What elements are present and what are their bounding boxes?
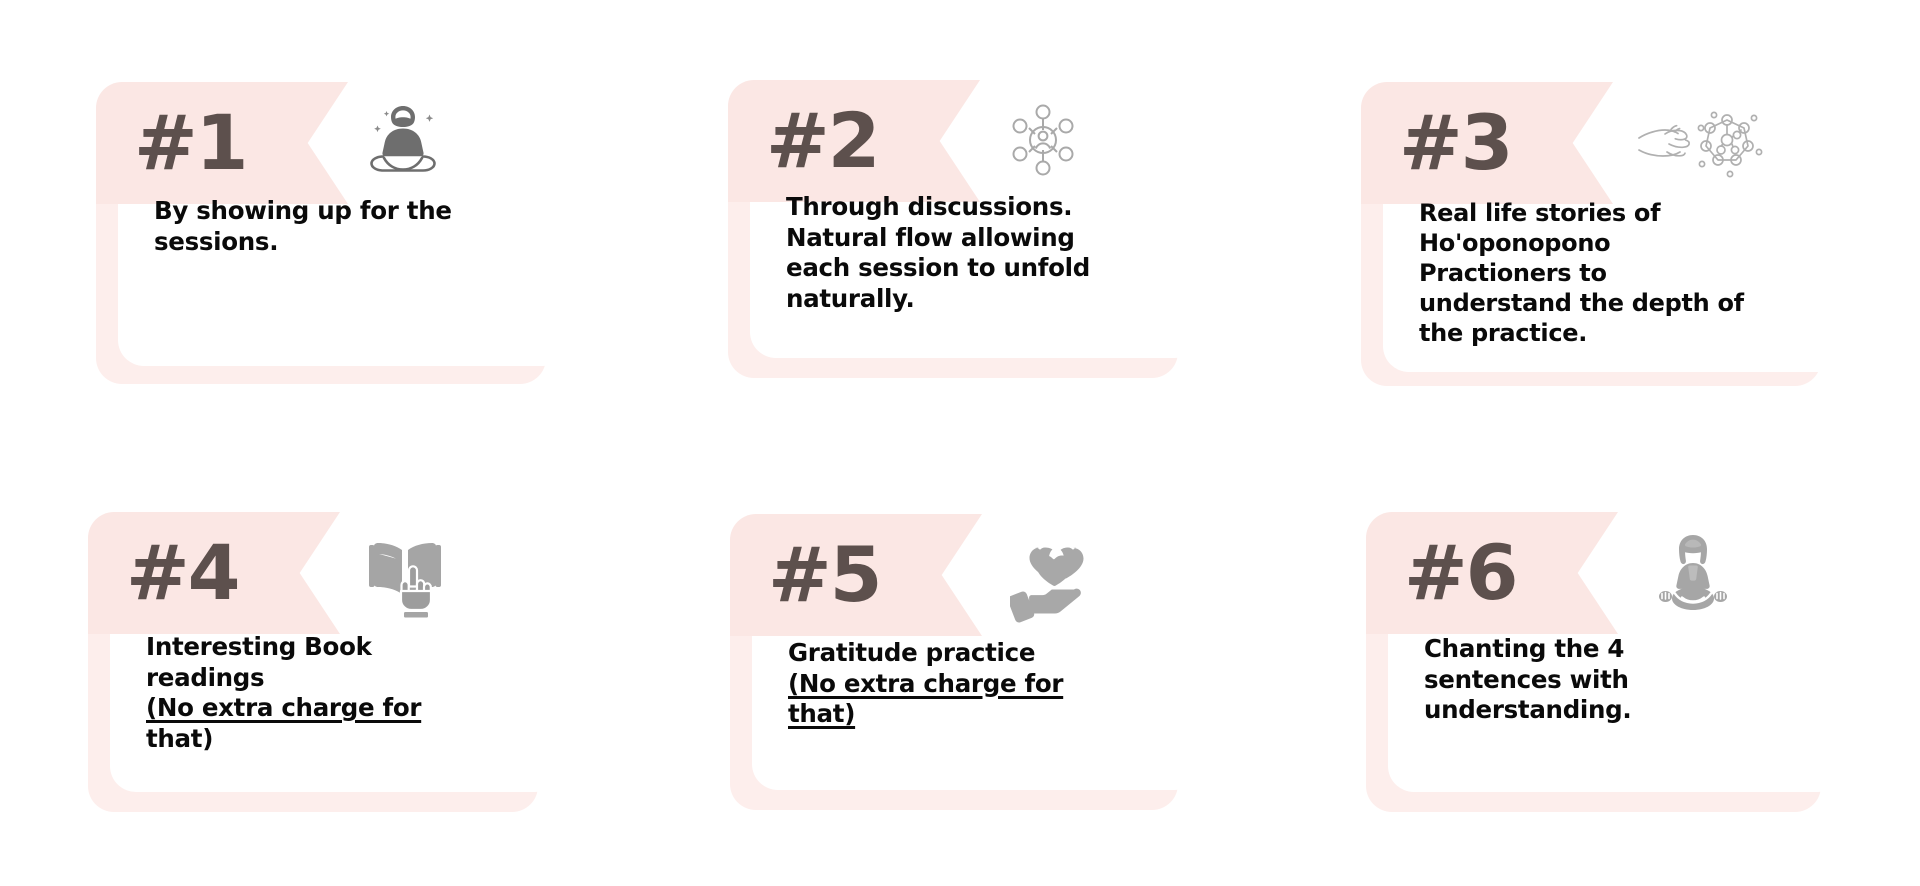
card-text-line: Chanting the 4 bbox=[1424, 634, 1624, 663]
card-text-line: Interesting Book bbox=[146, 632, 372, 661]
card-text-line: that) bbox=[146, 724, 213, 753]
card-cell-5: #5 bbox=[640, 490, 1280, 886]
card-text-line: understanding. bbox=[1424, 695, 1631, 724]
card-body-text: Gratitude practice(No extra charge for t… bbox=[788, 638, 1188, 730]
info-card-3[interactable]: #3 bbox=[1383, 70, 1833, 370]
card-number-label: #4 bbox=[88, 535, 239, 611]
info-card-5[interactable]: #5 bbox=[752, 502, 1202, 802]
card-text-line: sessions. bbox=[154, 227, 278, 256]
card-body-text: Through discussions.Natural flow allowin… bbox=[786, 192, 1116, 315]
card-number-label: #2 bbox=[728, 103, 879, 179]
card-text-line: (No extra charge for bbox=[788, 669, 1063, 698]
card-body-text: Interesting Bookreadings(No extra charge… bbox=[146, 632, 546, 755]
card-number-label: #5 bbox=[730, 537, 881, 613]
card-text-line: (No extra charge for bbox=[146, 693, 421, 722]
info-card-2[interactable]: #2 bbox=[750, 68, 1200, 368]
info-card-6[interactable]: #6 bbox=[1388, 500, 1838, 800]
card-text-line: each session to unfold bbox=[786, 253, 1090, 282]
card-cell-3: #3 bbox=[1280, 60, 1920, 490]
card-text-line: Natural flow allowing bbox=[786, 223, 1075, 252]
card-body-text: Chanting the 4sentences withunderstandin… bbox=[1424, 634, 1824, 726]
card-text-line: understand the depth of bbox=[1419, 289, 1744, 317]
cards-grid: #1 bbox=[0, 0, 1920, 886]
card-number-label: #1 bbox=[96, 105, 247, 181]
card-number-label: #6 bbox=[1366, 535, 1517, 611]
card-body-text: Real life stories ofHo'oponoponoPraction… bbox=[1419, 198, 1819, 349]
card-text-line: readings bbox=[146, 663, 264, 692]
card-text-line: Through discussions. bbox=[786, 192, 1072, 221]
card-text-line: sentences with bbox=[1424, 665, 1629, 694]
card-text-line: Gratitude practice bbox=[788, 638, 1035, 667]
card-text-line: that) bbox=[788, 699, 855, 728]
card-text-line: Ho'oponopono bbox=[1419, 229, 1610, 257]
card-cell-2: #2 bbox=[640, 60, 1280, 490]
card-number-label: #3 bbox=[1361, 105, 1512, 181]
card-text-line: naturally. bbox=[786, 284, 915, 313]
info-card-4[interactable]: #4 bbox=[110, 500, 560, 800]
card-text-line: Real life stories of bbox=[1419, 199, 1660, 227]
card-cell-1: #1 bbox=[0, 60, 640, 490]
card-cell-6: #6 bbox=[1280, 490, 1920, 886]
card-text-line: By showing up for the bbox=[154, 196, 452, 225]
slide-canvas: #1 bbox=[0, 0, 1920, 886]
card-body-text: By showing up for thesessions. bbox=[154, 196, 554, 257]
card-text-line: the practice. bbox=[1419, 319, 1587, 347]
card-text-line: Practioners to bbox=[1419, 259, 1607, 287]
info-card-1[interactable]: #1 bbox=[118, 70, 568, 370]
card-cell-4: #4 bbox=[0, 490, 640, 886]
